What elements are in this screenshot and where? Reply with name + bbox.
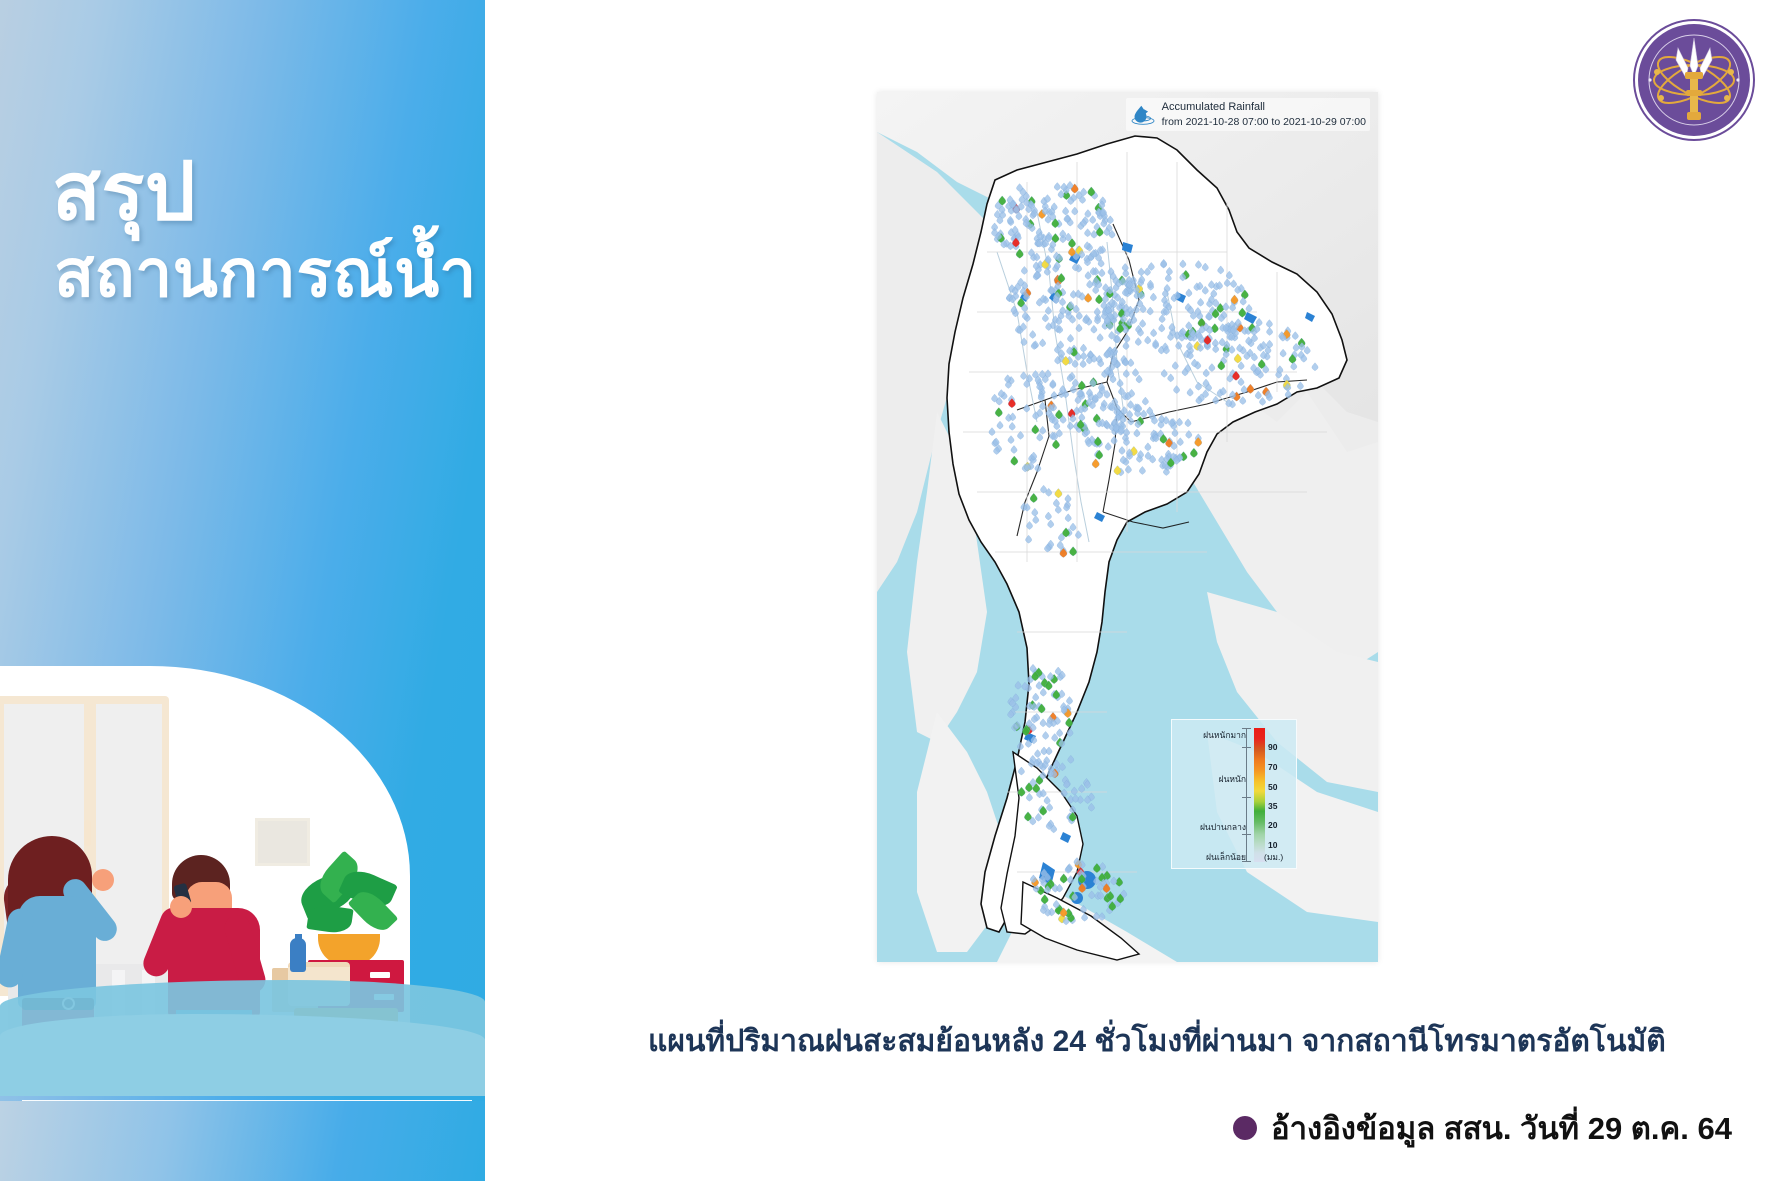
left-title-panel: สรุป สถานการณ์น้ำ: [0, 0, 485, 1181]
map-header-text: Accumulated Rainfall from 2021-10-28 07:…: [1162, 100, 1366, 129]
rainfall-legend: ฝนหนักมาก ฝนหนัก ฝนปานกลาง ฝนเล็กน้อย 90…: [1171, 719, 1297, 869]
legend-tick-35: 35: [1268, 801, 1277, 811]
legend-colorbar: [1254, 728, 1265, 862]
woman-hand: [92, 869, 114, 891]
map-geography: [877, 92, 1378, 962]
legend-label-light: ฝนเล็กน้อย: [1206, 850, 1246, 864]
legend-axis: [1246, 728, 1247, 862]
hii-water-drop-icon: [1130, 104, 1156, 126]
legend-label-moderate: ฝนปานกลาง: [1200, 820, 1246, 834]
bullet-dot-icon: [1233, 1116, 1257, 1140]
reference-footer: อ้างอิงข้อมูล สสน. วันที่ 29 ต.ค. 64: [1233, 1103, 1732, 1153]
legend-tick-90: 90: [1268, 742, 1277, 752]
panel-bottom-band: [0, 1101, 485, 1181]
map-header-range: from 2021-10-28 07:00 to 2021-10-29 07:0…: [1162, 115, 1366, 129]
window-handle: [84, 820, 91, 846]
ministry-seal-logo: [1630, 16, 1758, 144]
map-caption: แผนที่ปริมาณฝนสะสมย้อนหลัง 24 ชั่วโมงที่…: [648, 1018, 1666, 1065]
flood-illustration: [0, 626, 485, 1096]
wall-picture: [255, 818, 310, 866]
title-line-2: สถานการณ์น้ำ: [54, 239, 472, 308]
legend-class-labels: ฝนหนักมาก ฝนหนัก ฝนปานกลาง ฝนเล็กน้อย: [1174, 720, 1246, 870]
legend-tick-10: 10: [1268, 840, 1277, 850]
map-header-title: Accumulated Rainfall: [1162, 100, 1366, 115]
man-hand: [170, 896, 192, 918]
reference-text: อ้างอิงข้อมูล สสน. วันที่ 29 ต.ค. 64: [1271, 1103, 1732, 1153]
rainfall-map[interactable]: Accumulated Rainfall from 2021-10-28 07:…: [877, 92, 1378, 962]
legend-unit: (มม.): [1264, 850, 1283, 864]
legend-label-heavy: ฝนหนัก: [1219, 772, 1246, 786]
page-title: สรุป สถานการณ์น้ำ: [52, 150, 472, 308]
legend-tick-20: 20: [1268, 820, 1277, 830]
title-line-1: สรุป: [52, 150, 472, 233]
flood-water-front: [0, 1014, 485, 1096]
map-header: Accumulated Rainfall from 2021-10-28 07:…: [1126, 98, 1370, 131]
legend-label-very-heavy: ฝนหนักมาก: [1203, 728, 1246, 742]
legend-tick-50: 50: [1268, 782, 1277, 792]
bottle-neck: [295, 934, 302, 944]
slide-canvas: สรุป สถานการณ์น้ำ: [0, 0, 1772, 1181]
legend-tick-70: 70: [1268, 762, 1277, 772]
